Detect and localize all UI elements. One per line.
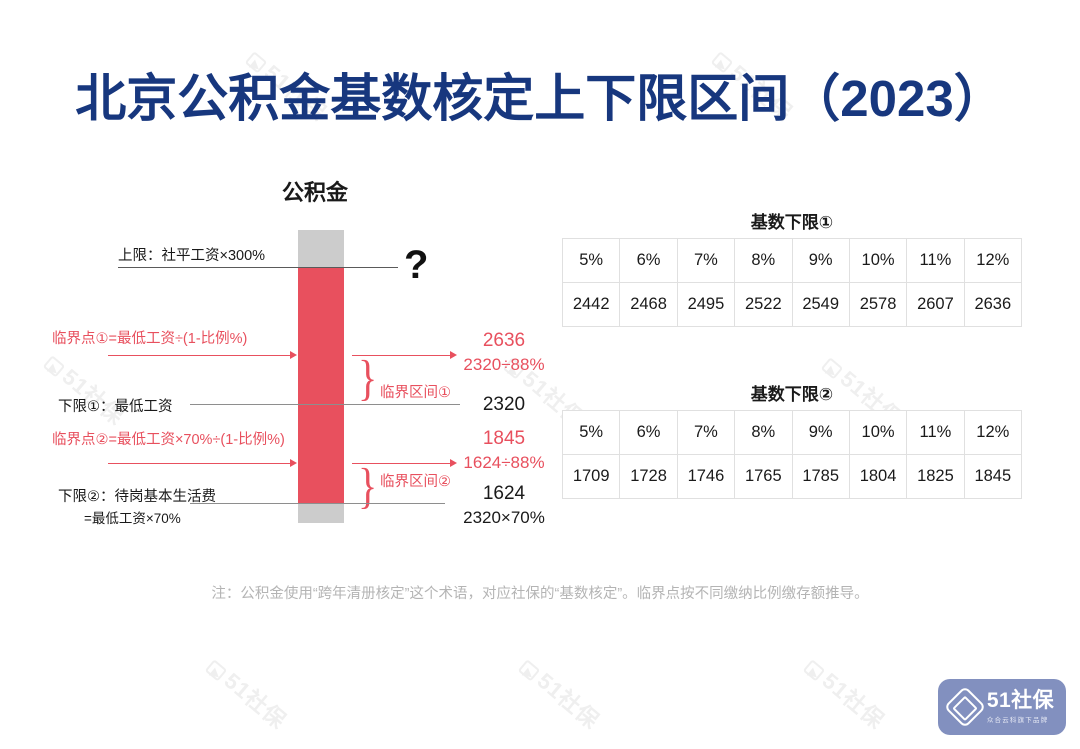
table-2-title: 基数下限② xyxy=(562,380,1022,405)
table-data-cell: 1845 xyxy=(964,455,1021,499)
lower-limit-1-label: 下限①：最低工资 xyxy=(58,395,173,416)
table-row: 5%6%7%8%9%10%11%12% xyxy=(563,239,1022,283)
value-2320: 2320 xyxy=(458,394,550,416)
lower-limit-1-line xyxy=(190,404,460,405)
table-header-cell: 5% xyxy=(563,239,620,283)
table-header-cell: 9% xyxy=(792,239,849,283)
table-header-cell: 6% xyxy=(620,239,677,283)
lower-limit-2-formula: =最低工资×70% xyxy=(84,507,181,527)
critical-point-2-label: 临界点②=最低工资×70%÷(1-比例%) xyxy=(52,428,285,449)
table-data-cell: 1825 xyxy=(907,455,964,499)
watermark-icon xyxy=(821,357,844,379)
table-data-cell: 2522 xyxy=(735,283,792,327)
table-data-cell: 2468 xyxy=(620,283,677,327)
value-1624: 1624 xyxy=(458,483,550,505)
logo-name: 51社保 xyxy=(987,690,1054,712)
table-header-cell: 6% xyxy=(620,411,677,455)
table-data-cell: 1709 xyxy=(563,455,620,499)
slide-root: 51社保 51社保 51社保 51社保 51社保 51社保 51社保 51社保 … xyxy=(0,0,1080,749)
table-data-cell: 2636 xyxy=(964,283,1021,327)
table-header-cell: 11% xyxy=(907,411,964,455)
footnote: 注：公积金使用“跨年清册核定”这个术语，对应社保的“基数核定”。临界点按不同缴纳… xyxy=(0,582,1080,603)
table-1-wrapper: 基数下限① 5%6%7%8%9%10%11%12%244224682495252… xyxy=(562,208,1022,328)
critical-zone-1-brace: } xyxy=(358,353,377,403)
table-header-cell: 7% xyxy=(677,239,734,283)
brand-logo: 51社保 众合云科旗下品牌 xyxy=(938,679,1066,735)
table-header-cell: 8% xyxy=(735,239,792,283)
value-1845-formula: 1624÷88% xyxy=(450,453,558,473)
table-header-cell: 10% xyxy=(849,411,906,455)
value-1845: 1845 xyxy=(458,428,550,450)
question-mark: ? xyxy=(404,245,428,285)
critical-zone-2-label: 临界区间② xyxy=(380,470,451,491)
watermark-icon xyxy=(518,659,541,681)
upper-limit-line xyxy=(118,267,398,268)
table-data-cell: 2578 xyxy=(849,283,906,327)
critical-point-1-arrow-head xyxy=(290,351,297,359)
table-data-cell: 1728 xyxy=(620,455,677,499)
value-2636-formula: 2320÷88% xyxy=(450,355,558,375)
table-1-title: 基数下限① xyxy=(562,208,1022,233)
table-data-cell: 1765 xyxy=(735,455,792,499)
bar-segment-valid-range xyxy=(298,267,344,503)
bar-segment-above-upper-limit xyxy=(298,230,344,267)
table-data-cell: 2607 xyxy=(907,283,964,327)
table-header-cell: 12% xyxy=(964,239,1021,283)
critical-point-2-arrow-head xyxy=(290,459,297,467)
table-header-cell: 9% xyxy=(792,411,849,455)
table-header-cell: 7% xyxy=(677,411,734,455)
table-row: 5%6%7%8%9%10%11%12% xyxy=(563,411,1022,455)
critical-point-2-arrow-line xyxy=(108,463,290,464)
critical-point-1-arrow-line xyxy=(108,355,290,356)
lower-limit-2-line xyxy=(190,503,445,504)
table-row: 24422468249525222549257826072636 xyxy=(563,283,1022,327)
table-2-wrapper: 基数下限② 5%6%7%8%9%10%11%12%170917281746176… xyxy=(562,380,1022,500)
table-lower-limit-2: 5%6%7%8%9%10%11%12%170917281746176517851… xyxy=(562,410,1022,499)
critical-point-1-label: 临界点①=最低工资÷(1-比例%) xyxy=(52,327,247,348)
table-data-cell: 2495 xyxy=(677,283,734,327)
upper-limit-label: 上限：社平工资×300% xyxy=(118,244,265,265)
critical-zone-1-label: 临界区间① xyxy=(380,381,451,402)
table-data-cell: 2442 xyxy=(563,283,620,327)
table-row: 17091728174617651785180418251845 xyxy=(563,455,1022,499)
column-title: 公积金 xyxy=(282,175,348,207)
watermark: 51社保 xyxy=(514,650,607,735)
value-1624-formula: 2320×70% xyxy=(450,508,558,528)
watermark: 51社保 xyxy=(201,650,294,735)
logo-tagline: 众合云科旗下品牌 xyxy=(987,714,1049,724)
watermark-icon xyxy=(205,659,228,681)
table-data-cell: 2549 xyxy=(792,283,849,327)
value-2636: 2636 xyxy=(458,330,550,352)
table-data-cell: 1804 xyxy=(849,455,906,499)
watermark-icon xyxy=(803,659,826,681)
table-header-cell: 12% xyxy=(964,411,1021,455)
table-header-cell: 5% xyxy=(563,411,620,455)
deposit-range-diagram: 公积金 上限：社平工资×300% ? 临界点①=最低工资÷(1-比例%) } 临… xyxy=(0,0,560,600)
table-header-cell: 8% xyxy=(735,411,792,455)
bar-segment-below-lower-limit xyxy=(298,503,344,523)
lower-limit-2-label: 下限②：待岗基本生活费 xyxy=(58,485,216,506)
logo-mark-icon xyxy=(944,686,986,728)
table-lower-limit-1: 5%6%7%8%9%10%11%12%244224682495252225492… xyxy=(562,238,1022,327)
table-data-cell: 1746 xyxy=(677,455,734,499)
table-header-cell: 10% xyxy=(849,239,906,283)
table-data-cell: 1785 xyxy=(792,455,849,499)
watermark: 51社保 xyxy=(799,650,892,735)
table-header-cell: 11% xyxy=(907,239,964,283)
